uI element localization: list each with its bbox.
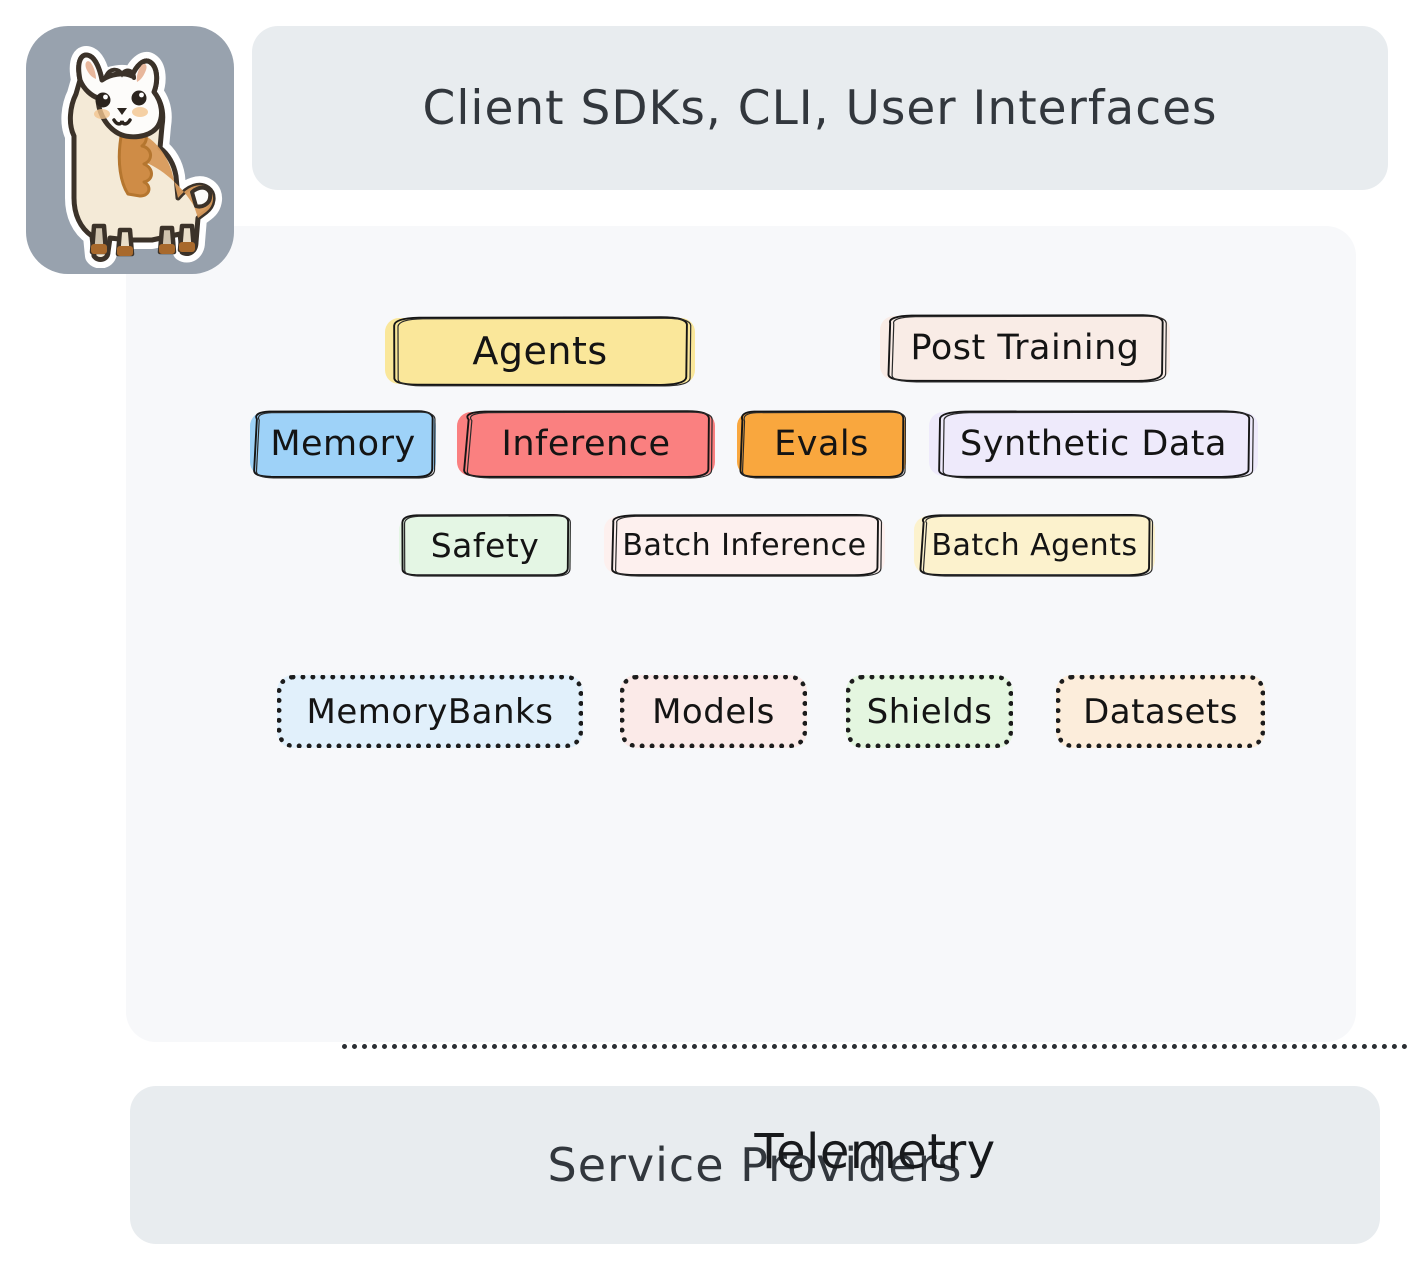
resource-box-label: Shields [867,692,993,732]
api-box-label: Synthetic Data [960,424,1227,464]
api-box-label: Inference [502,424,671,464]
api-box-safety[interactable]: Safety [399,516,571,574]
resource-box-label: Models [652,692,775,732]
api-box-label: Memory [270,424,415,464]
resource-box-memorybanks[interactable]: MemoryBanks [277,675,583,748]
api-box-label: Evals [774,424,869,464]
api-box-inference[interactable]: Inference [457,412,715,476]
api-box-agents[interactable]: Agents [385,318,695,384]
resource-box-datasets[interactable]: Datasets [1056,675,1265,748]
dotted-divider [342,1044,1410,1049]
llama-stack-panel: AgentsPost TrainingMemoryInferenceEvalsS… [126,226,1356,1042]
llama-logo-tile [26,26,234,274]
resource-box-models[interactable]: Models [620,675,807,748]
telemetry-label: Telemetry [754,1124,995,1180]
resource-box-label: MemoryBanks [307,692,554,732]
resource-box-label: Datasets [1083,692,1238,732]
resource-box-shields[interactable]: Shields [846,675,1013,748]
api-box-batch-agents[interactable]: Batch Agents [914,516,1155,574]
api-box-batch-inference[interactable]: Batch Inference [604,516,885,574]
client-interfaces-bar: Client SDKs, CLI, User Interfaces [252,26,1388,190]
api-box-label: Post Training [911,328,1140,368]
llama-icon [32,36,228,268]
api-box-label: Batch Agents [931,528,1137,563]
api-box-label: Batch Inference [622,528,866,563]
api-box-post-training[interactable]: Post Training [880,316,1170,380]
api-box-label: Safety [431,526,540,565]
api-box-synthetic-data[interactable]: Synthetic Data [929,412,1258,476]
api-box-memory[interactable]: Memory [250,412,436,476]
api-box-label: Agents [472,329,607,373]
header-title: Client SDKs, CLI, User Interfaces [423,81,1218,136]
api-box-evals[interactable]: Evals [737,412,906,476]
